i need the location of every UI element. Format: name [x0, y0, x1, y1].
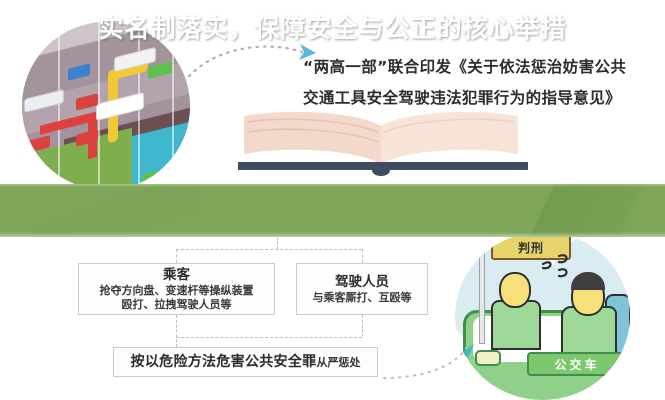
- flow-node-passenger[interactable]: 乘客 抢夺方向盘、变速杆等操纵装置 殴打、拉拽驾驶人员等: [78, 263, 275, 315]
- banner-top-edge: [0, 184, 665, 187]
- flow-node-passenger-line2: 殴打、拉拽驾驶人员等: [122, 298, 232, 312]
- cartoon-bus-headlight: [475, 350, 501, 366]
- flow-node-driver-line1: 与乘客厮打、互殴等: [313, 291, 412, 305]
- connector-line: [176, 249, 177, 263]
- cartoon-hand-pole: [479, 246, 485, 344]
- flow-node-penalty-suffix: 从严惩处: [316, 354, 360, 370]
- connector-line: [176, 249, 362, 250]
- cartoon-passenger-head: [499, 272, 531, 308]
- bus-plate-label: 公交车: [554, 356, 599, 373]
- flow-node-passenger-title: 乘客: [163, 267, 190, 284]
- headline-line-1: “两高一部”联合印发《关于依法惩治妨害公共: [303, 52, 653, 83]
- banner-sheen: [30, 184, 200, 237]
- banner-bottom-edge: [0, 232, 665, 237]
- banner-title: 实名制落实，保障安全与公正的核心举措: [0, 0, 665, 53]
- headline-paragraph: “两高一部”联合印发《关于依法惩治妨害公共 交通工具安全驾驶违法犯罪行为的指导意…: [303, 52, 653, 114]
- connector-line: [176, 315, 177, 347]
- connector-line: [362, 315, 363, 337]
- title-banner: [0, 184, 665, 237]
- cartoon-motion-marks: [537, 254, 573, 300]
- open-book-illustration: [238, 112, 528, 184]
- flow-node-driver-title: 驾驶人员: [335, 274, 389, 291]
- sentencing-sign-label: 判刑: [518, 239, 544, 256]
- flow-node-passenger-line1: 抢夺方向盘、变速杆等操纵装置: [100, 284, 254, 298]
- flow-node-penalty-main: 按以危险方法危害公共安全罪: [131, 354, 317, 371]
- dotted-curve-arrow-secondary: [380, 344, 476, 384]
- banner-sheen: [465, 184, 665, 237]
- bus-assault-cartoon-illustration: 判刑 公交车: [455, 232, 630, 400]
- flow-node-penalty[interactable]: 按以危险方法危害公共安全罪 从严惩处: [113, 347, 378, 377]
- flow-node-driver[interactable]: 驾驶人员 与乘客厮打、互殴等: [296, 263, 428, 315]
- connector-line: [362, 249, 363, 263]
- connector-line: [176, 337, 362, 338]
- bus-plate: 公交车: [527, 352, 627, 376]
- poster-canvas: “两高一部”联合印发《关于依法惩治妨害公共 交通工具安全驾驶违法犯罪行为的指导意…: [0, 0, 665, 400]
- headline-line-2: 交通工具安全驾驶违法犯罪行为的指导意见》: [303, 83, 653, 114]
